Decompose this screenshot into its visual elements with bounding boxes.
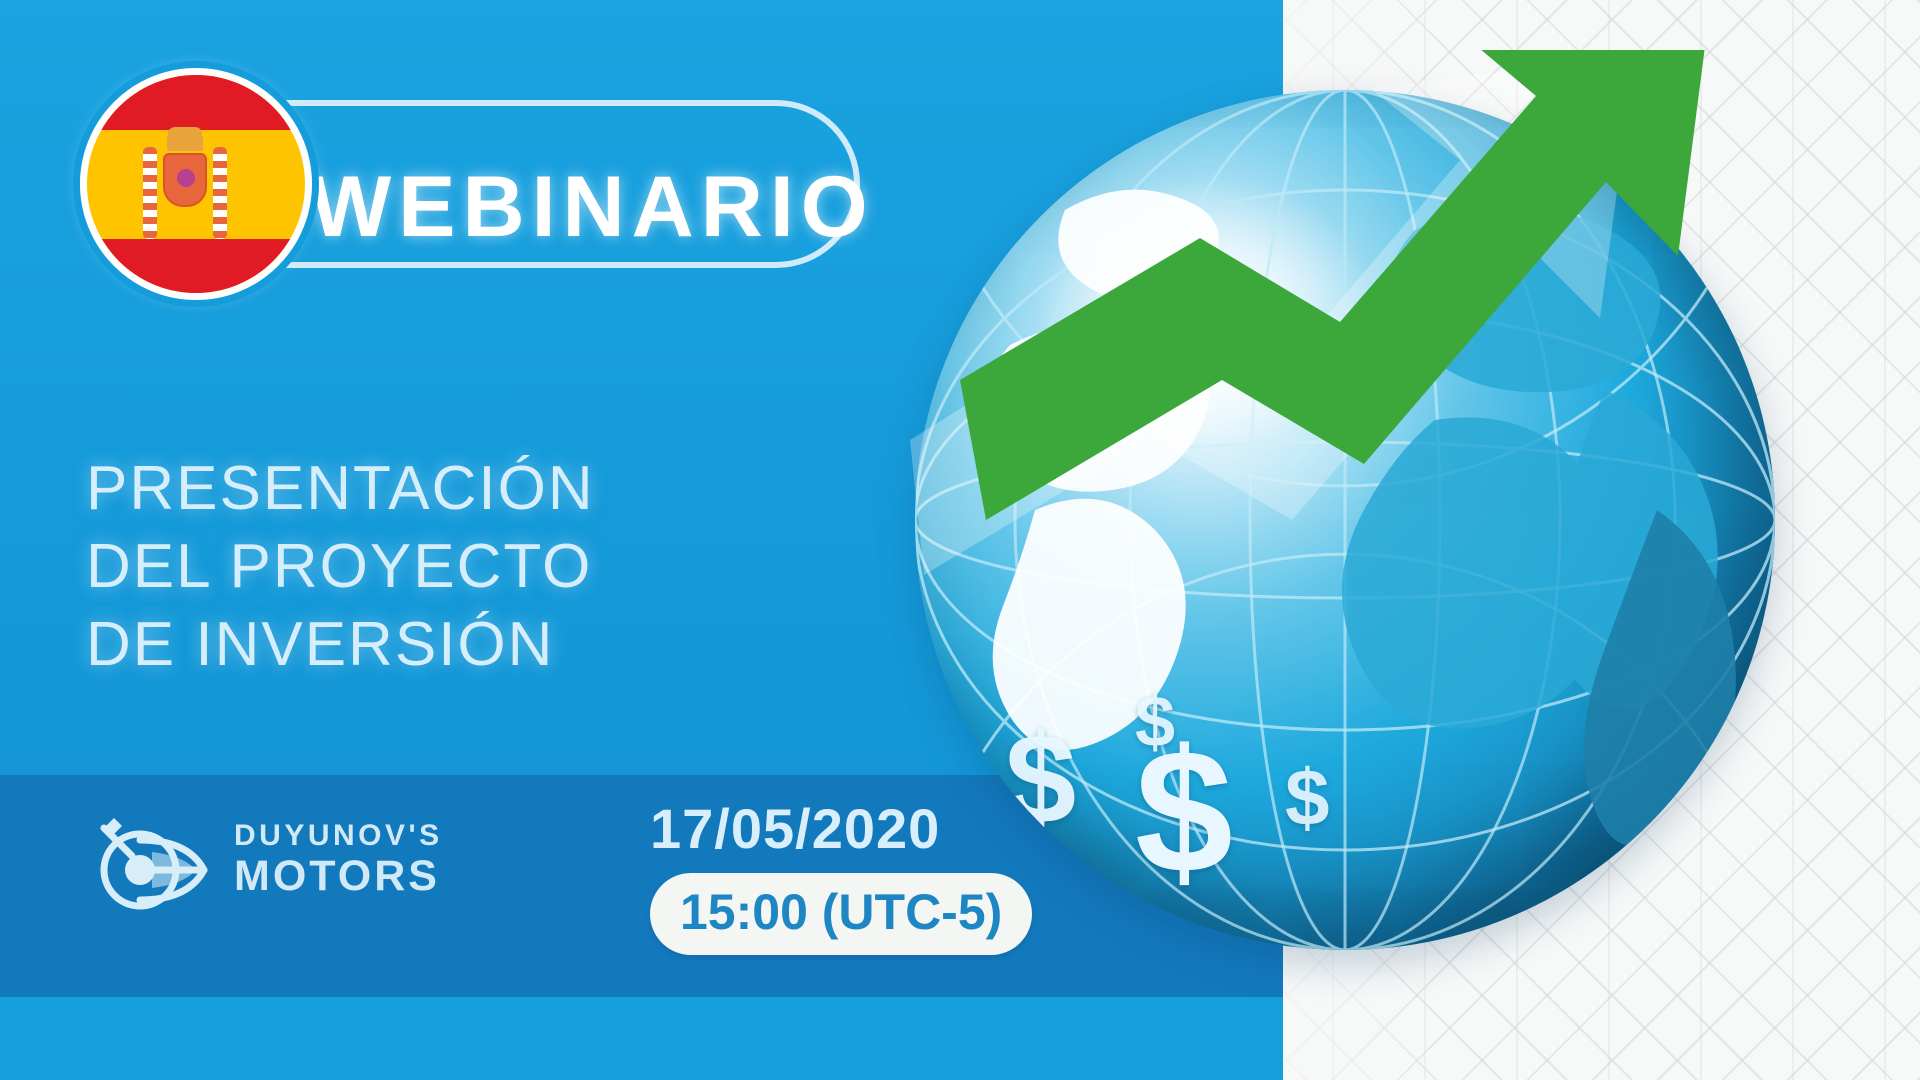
- bottom-strip: [0, 997, 1283, 1080]
- brand-logo: DUYUNOV'S MOTORS: [92, 800, 443, 918]
- event-time-badge: 15:00 (UTC-5): [650, 873, 1032, 955]
- badge-label: WEBINARIO: [310, 164, 875, 250]
- spain-flag-icon: [80, 68, 312, 300]
- growth-arrow-graphic: [900, 50, 1920, 870]
- flag-stripe-top: [87, 75, 305, 130]
- logo-wordmark: DUYUNOV'S MOTORS: [234, 821, 443, 898]
- crest-shield: [163, 153, 207, 207]
- crest-pillar-right: [213, 147, 227, 239]
- headline-line-3: DE INVERSIÓN: [86, 606, 595, 684]
- page-title: PRESENTACIÓN DEL PROYECTO DE INVERSIÓN: [86, 450, 595, 684]
- crest-pillar-left: [143, 147, 157, 239]
- logo-line-2: MOTORS: [234, 855, 443, 898]
- webinar-promo-banner: $ $ $ $ WEBINARIO PRES: [0, 0, 1920, 1080]
- spain-coat-of-arms-icon: [139, 131, 231, 249]
- crest-crown: [167, 131, 203, 151]
- webinar-badge: WEBINARIO: [80, 68, 800, 300]
- duyunov-motors-logo-icon: [92, 800, 212, 918]
- growth-arrow-icon: [900, 50, 1920, 870]
- headline-line-1: PRESENTACIÓN: [86, 450, 595, 528]
- event-schedule: 17/05/2020 15:00 (UTC-5): [650, 796, 1070, 955]
- logo-line-1: DUYUNOV'S: [234, 821, 443, 851]
- event-date: 17/05/2020: [650, 796, 1070, 861]
- headline-line-2: DEL PROYECTO: [86, 528, 595, 606]
